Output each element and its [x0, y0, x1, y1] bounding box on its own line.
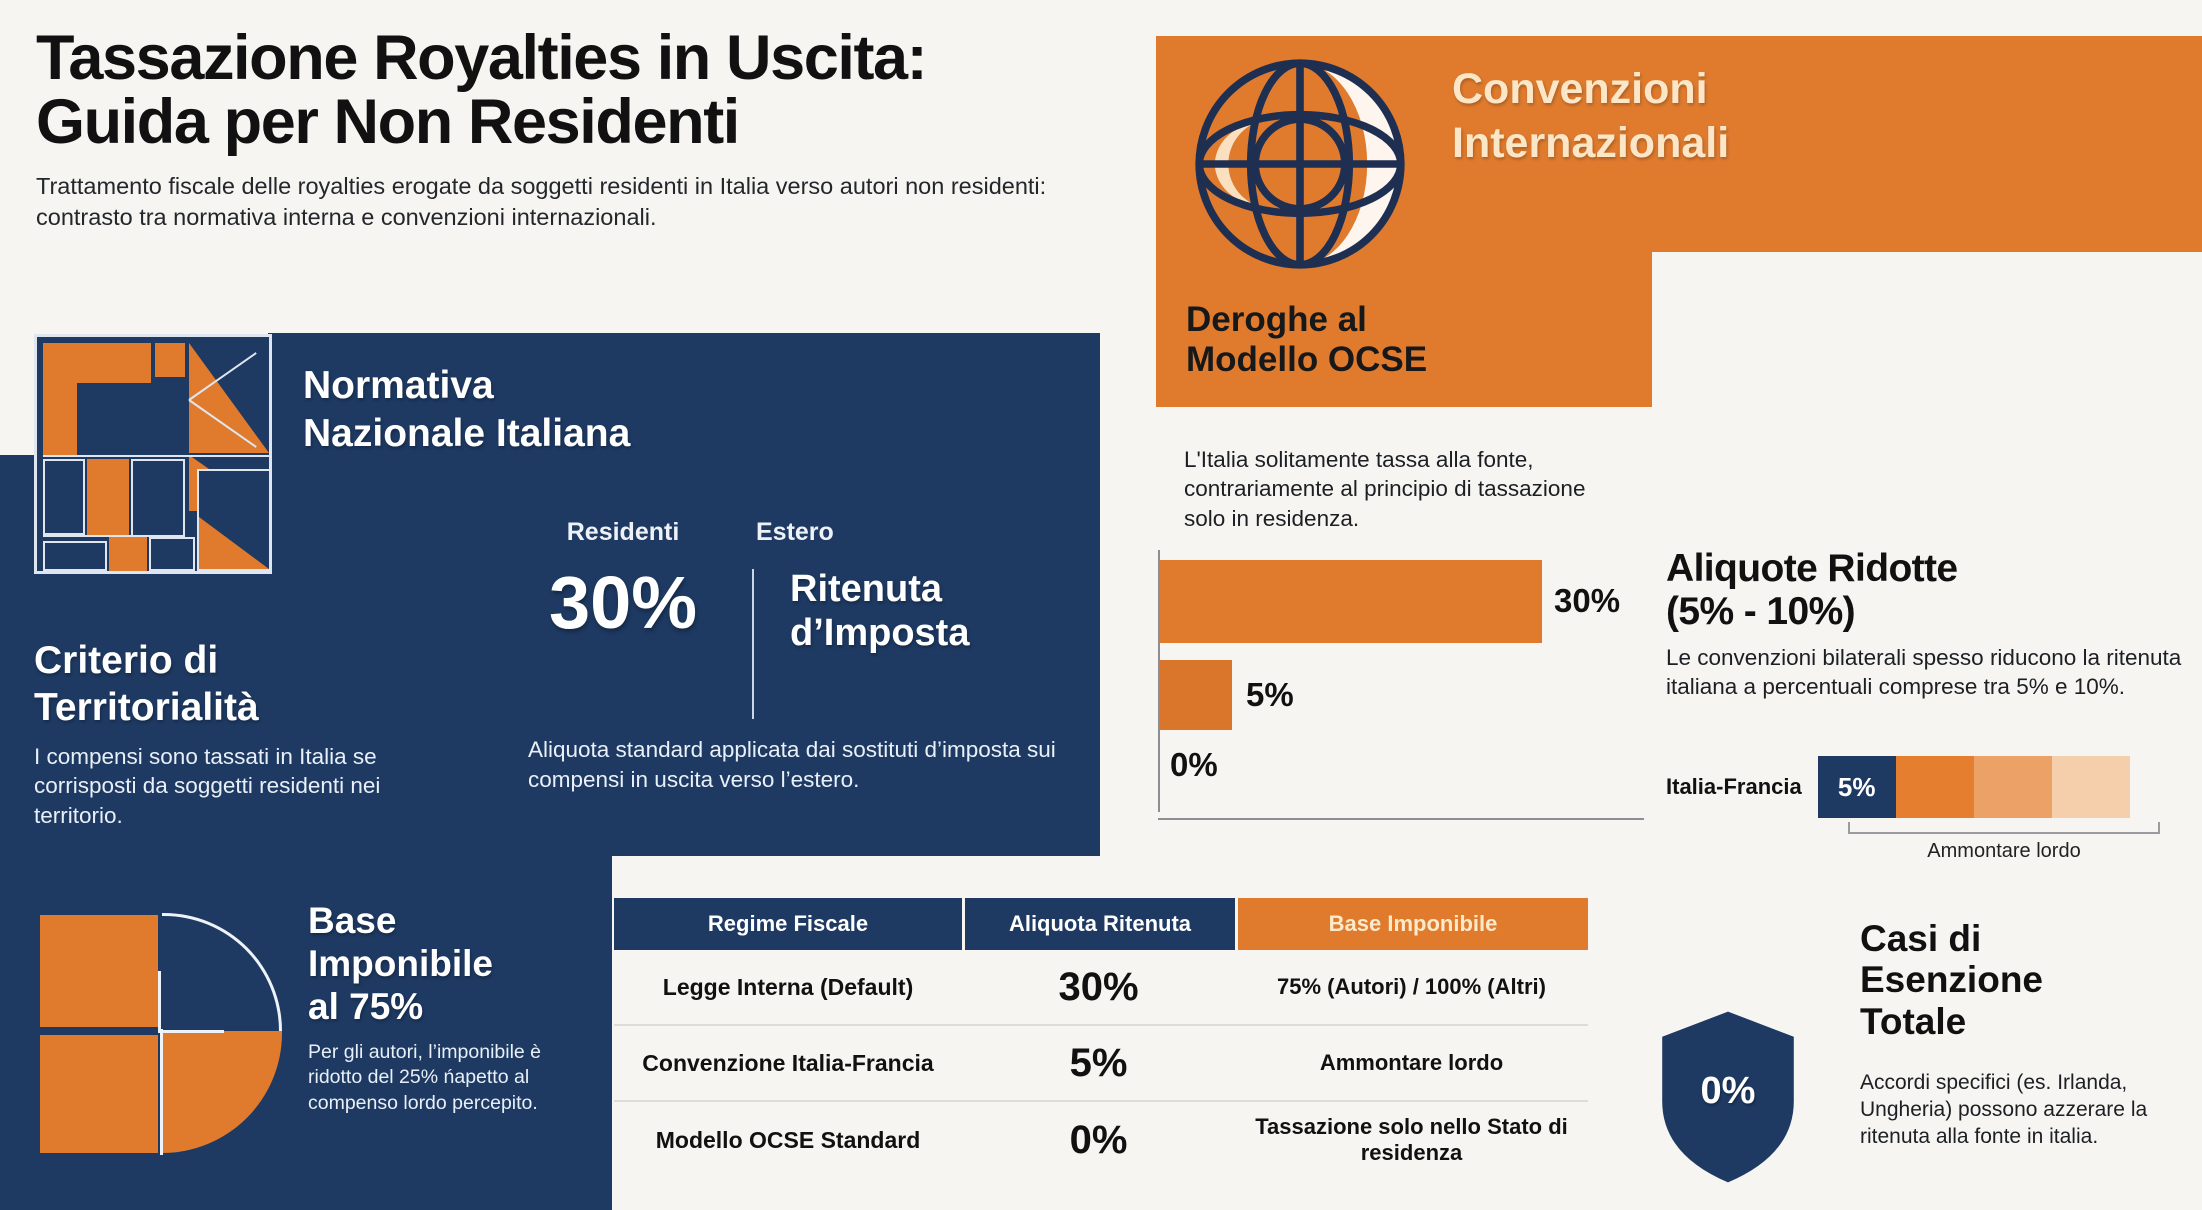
treaty-stacked-bar: 5%	[1818, 756, 2190, 818]
national-heading-line-2: Nazionale Italiana	[303, 410, 823, 458]
infographic-canvas: Tassazione Royalties in Uscita: Guida pe…	[0, 0, 2202, 1210]
table-row: Convenzione Italia-Francia 5% Ammontare …	[614, 1026, 1588, 1102]
international-heading-line-1: Convenzioni	[1452, 62, 2012, 116]
chart-x-axis	[1158, 818, 1644, 820]
deroghe-heading-line-1: Deroghe al	[1186, 300, 1626, 340]
territoriality-paragraph: I compensi sono tassati in Italia se cor…	[34, 742, 464, 831]
national-heading: Normativa Nazionale Italiana	[303, 362, 823, 457]
rate-kind-line-2: d’Imposta	[790, 611, 969, 655]
international-heading-line-2: Internazionali	[1452, 116, 2012, 170]
exemption-heading-line-2: Esenzione	[1860, 959, 2190, 1000]
page-title: Tassazione Royalties in Uscita: Guida pe…	[36, 26, 1116, 155]
territoriality-block: Criterio di Territorialità I compensi so…	[34, 638, 464, 831]
treaty-bar-segment-3	[2052, 756, 2130, 818]
treaty-bar-row: Italia-Francia 5%	[1666, 756, 2190, 818]
table-cell-rate: 30%	[962, 959, 1235, 1016]
treaty-bar-caption: Ammontare lordo	[1848, 840, 2160, 863]
chart-bar-label-1: 5%	[1246, 676, 1294, 714]
table-cell-base: Tassazione solo nello Stato di residenza	[1235, 1108, 1588, 1173]
vertical-divider	[752, 569, 754, 719]
table-header-base: Base Imponibile	[1238, 898, 1588, 950]
reduced-rates-block: Aliquote Ridotte (5% - 10%) Le convenzio…	[1666, 548, 2190, 701]
exemption-badge-value: 0%	[1658, 1070, 1798, 1113]
table-row: Modello OCSE Standard 0% Tassazione solo…	[614, 1102, 1588, 1178]
geometric-logo	[34, 334, 272, 574]
rate-value: 30%	[528, 567, 718, 719]
chart-bar-label-0: 30%	[1554, 582, 1620, 620]
treaty-bar-segment-rate: 5%	[1818, 756, 1896, 818]
territoriality-heading-line-2: Territorialità	[34, 685, 464, 732]
header: Tassazione Royalties in Uscita: Guida pe…	[36, 26, 1116, 233]
rate-note: Aliquota standard applicata dai sostitut…	[528, 735, 1088, 794]
table-cell-regime: Legge Interna (Default)	[614, 968, 962, 1007]
globe-icon	[1188, 52, 1412, 276]
rate-kind: Ritenuta d’Imposta	[790, 567, 969, 719]
territoriality-heading-line-1: Criterio di	[34, 638, 464, 685]
base-paragraph: Per gli autori, l’imponibile è ridotto d…	[308, 1040, 588, 1116]
table-header-regime: Regime Fiscale	[614, 898, 962, 950]
base-heading-line-2: Imponibile	[308, 943, 608, 986]
treaty-bar-bracket	[1848, 822, 2160, 834]
rate-kind-line-1: Ritenuta	[790, 567, 969, 611]
table-header-row: Regime Fiscale Aliquota Ritenuta Base Im…	[614, 898, 1588, 950]
regimes-table: Regime Fiscale Aliquota Ritenuta Base Im…	[614, 898, 1588, 1178]
reduced-heading: Aliquote Ridotte (5% - 10%)	[1666, 548, 2190, 634]
table-header-aliquota: Aliquota Ritenuta	[965, 898, 1235, 950]
page-title-line-2: Guida per Non Residenti	[36, 90, 1116, 154]
territoriality-heading: Criterio di Territorialità	[34, 638, 464, 732]
shield-icon: 0%	[1658, 1008, 1798, 1186]
treaty-bar-segment-2	[1974, 756, 2052, 818]
table-cell-base: Ammontare lordo	[1235, 1044, 1588, 1082]
table-cell-rate: 0%	[962, 1112, 1235, 1169]
treaty-label: Italia-Francia	[1666, 774, 1802, 800]
table-row: Legge Interna (Default) 30% 75% (Autori)…	[614, 950, 1588, 1026]
reduced-heading-line-2: (5% - 10%)	[1666, 591, 2190, 634]
rate-stat-block: Residenti Estero 30% Ritenuta d’Imposta	[528, 518, 1088, 719]
exemption-heading-line-3: Totale	[1860, 1001, 2190, 1042]
base-heading-line-1: Base	[308, 900, 608, 943]
table-cell-rate: 5%	[962, 1035, 1235, 1092]
chart-bar-0	[1160, 560, 1542, 643]
chart-bar-1	[1160, 660, 1232, 730]
table-cell-regime: Modello OCSE Standard	[614, 1121, 962, 1160]
base-heading-line-3: al 75%	[308, 986, 608, 1029]
page-title-line-1: Tassazione Royalties in Uscita:	[36, 26, 1116, 90]
deroghe-heading: Deroghe al Modello OCSE	[1186, 300, 1626, 380]
international-heading: Convenzioni Internazionali	[1452, 62, 2012, 170]
rates-bar-chart: 30% 5% 0%	[1158, 550, 1648, 820]
national-heading-line-1: Normativa	[303, 362, 823, 410]
label-residenti: Residenti	[528, 518, 718, 547]
table-cell-regime: Convenzione Italia-Francia	[614, 1044, 962, 1083]
pie-quadrant-icon	[30, 905, 300, 1170]
exemption-heading: Casi di Esenzione Totale	[1860, 918, 2190, 1042]
treaty-bar-segment-1	[1896, 756, 1974, 818]
page-subtitle: Trattamento fiscale delle royalties erog…	[36, 171, 1071, 234]
reduced-heading-line-1: Aliquote Ridotte	[1666, 548, 2190, 591]
table-cell-base: 75% (Autori) / 100% (Altri)	[1235, 968, 1588, 1006]
rate-stat-labels: Residenti Estero	[528, 518, 1088, 547]
label-estero: Estero	[718, 518, 978, 547]
exemption-paragraph: Accordi specifici (es. Irlanda, Ungheria…	[1860, 1070, 2196, 1151]
deroghe-paragraph: L'Italia solitamente tassa alla fonte, c…	[1184, 445, 1604, 533]
exemption-heading-line-1: Casi di	[1860, 918, 2190, 959]
reduced-paragraph: Le convenzioni bilaterali spesso riducon…	[1666, 643, 2190, 702]
chart-bar-label-2: 0%	[1170, 746, 1218, 784]
rate-stat-body: 30% Ritenuta d’Imposta	[528, 567, 1088, 719]
deroghe-heading-line-2: Modello OCSE	[1186, 340, 1626, 380]
base-heading: Base Imponibile al 75%	[308, 900, 608, 1029]
